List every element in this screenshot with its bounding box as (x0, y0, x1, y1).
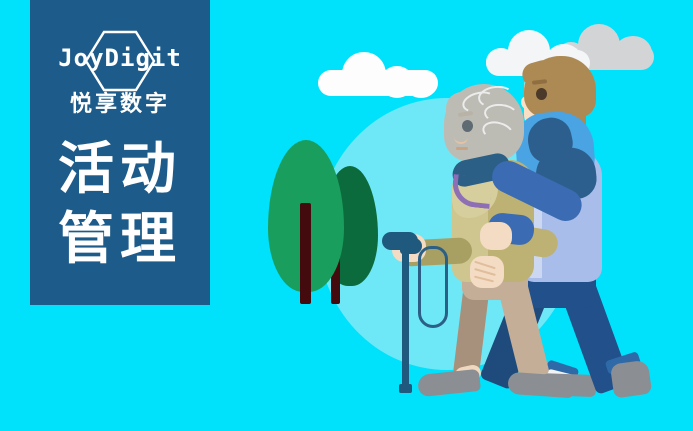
page-title: 活动 管理 (30, 134, 210, 274)
cane-tip (399, 384, 412, 393)
brand-subtitle: 悦享数字 (30, 86, 210, 118)
tree-front-trunk (300, 203, 311, 304)
cane-strap (418, 246, 448, 328)
man-near-hand (480, 222, 512, 250)
woman-mouth (456, 147, 468, 150)
page-title-line-1: 活动 (30, 134, 210, 204)
brand-logo: JoyDigit 悦享数字 (30, 28, 210, 126)
cane-shaft (402, 245, 409, 390)
woman-eye (462, 120, 473, 132)
cloud-left-icon (318, 48, 438, 96)
cane-grip-back (400, 238, 422, 254)
page-title-line-2: 管理 (30, 204, 210, 274)
title-panel: JoyDigit 悦享数字 活动 管理 (30, 0, 210, 305)
poster-canvas: JoyDigit 悦享数字 活动 管理 (0, 0, 693, 431)
brand-wordmark: JoyDigit (30, 44, 210, 72)
woman-back-shoe (417, 369, 481, 397)
man-eye (536, 88, 547, 100)
woman-front-shoe (507, 372, 574, 399)
man-front-shoe (610, 360, 652, 399)
